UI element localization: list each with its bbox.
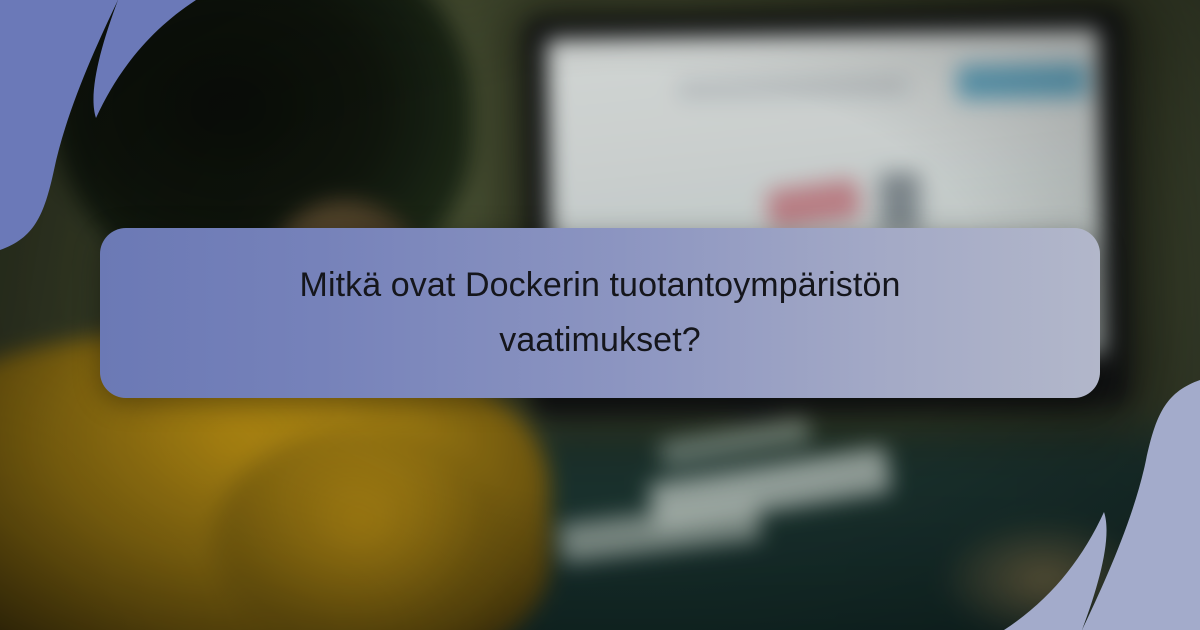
caption-box: Mitkä ovat Dockerin tuotantoympäristön v… <box>100 228 1100 398</box>
desk-light-glow <box>940 520 1150 630</box>
monitor-stand <box>732 405 776 418</box>
screen-gray-band <box>677 76 907 98</box>
social-card: Mitkä ovat Dockerin tuotantoympäristön v… <box>0 0 1200 630</box>
caption-text: Mitkä ovat Dockerin tuotantoympäristön v… <box>250 258 950 368</box>
screen-blue-panel <box>957 63 1088 99</box>
screen-red-highlight <box>765 178 862 231</box>
screen-dark-block <box>879 172 920 233</box>
